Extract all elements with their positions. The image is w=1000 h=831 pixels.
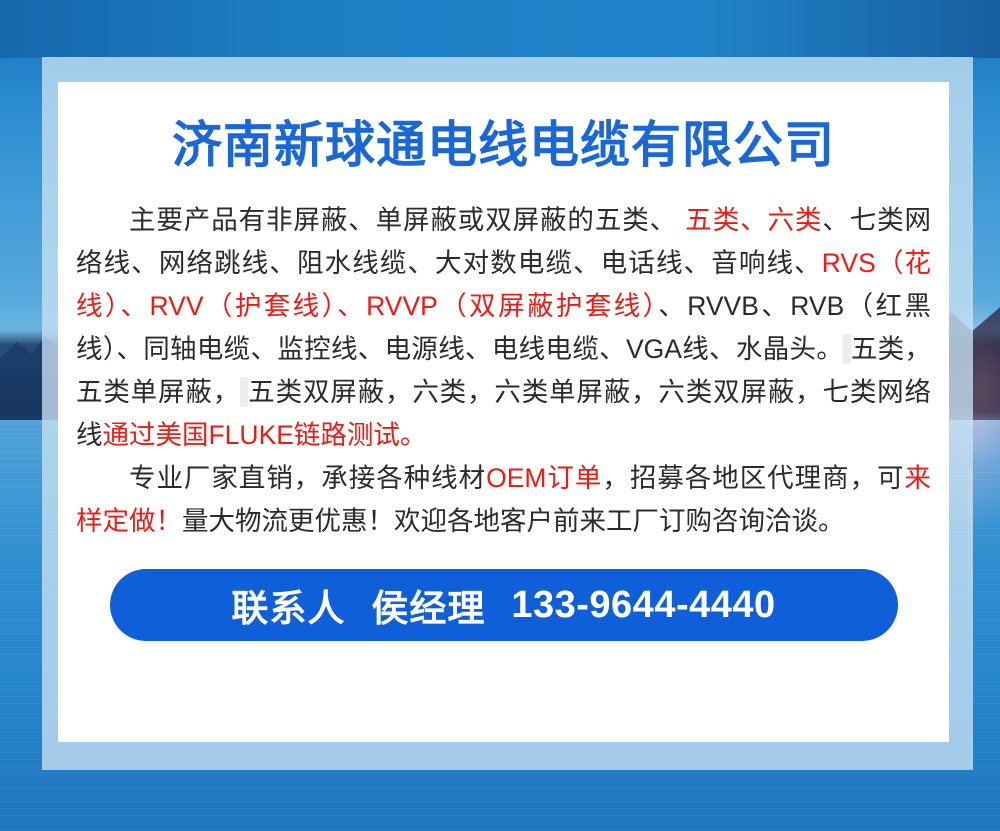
content-card: 济南新球通电线电缆有限公司 主要产品有非屏蔽、单屏蔽或双屏蔽的五类、 五类、六类… <box>58 82 949 742</box>
body-copy: 主要产品有非屏蔽、单屏蔽或双屏蔽的五类、 五类、六类、七类网络线、网络跳线、阻水… <box>76 199 931 543</box>
contact-person: 侯经理 <box>371 578 485 632</box>
contact-label: 联系人 <box>231 578 345 632</box>
contact-banner[interactable]: 联系人 侯经理 133-9644-4440 <box>110 569 898 641</box>
contact-phone[interactable]: 133-9644-4440 <box>511 584 775 627</box>
contact-banner-wrap: 联系人 侯经理 133-9644-4440 <box>58 569 949 641</box>
paragraph-sales: 专业厂家直销，承接各种线材OEM订单，招募各地区代理商，可来样定做！量大物流更优… <box>76 457 931 543</box>
paragraph-products-text: 主要产品有非屏蔽、单屏蔽或双屏蔽的五类、 五类、六类、七类网络线、网络跳线、阻水… <box>76 205 931 450</box>
paragraph-sales-text: 专业厂家直销，承接各种线材OEM订单，招募各地区代理商，可来样定做！量大物流更优… <box>76 463 931 536</box>
background-top-band <box>0 0 1000 58</box>
page-title: 济南新球通电线电缆有限公司 <box>58 118 949 173</box>
paragraph-products: 主要产品有非屏蔽、单屏蔽或双屏蔽的五类、 五类、六类、七类网络线、网络跳线、阻水… <box>76 199 931 457</box>
